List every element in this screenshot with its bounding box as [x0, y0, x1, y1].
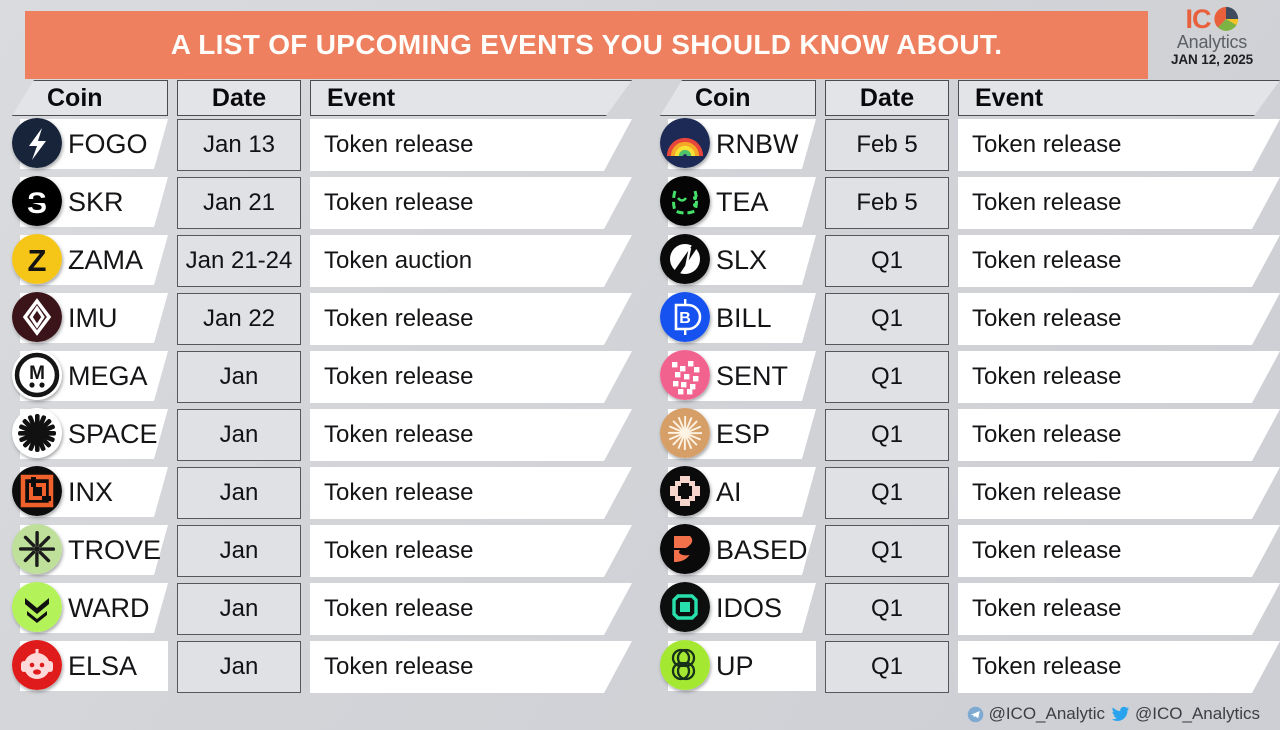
table-row: AI Q1 Token release: [660, 465, 1280, 523]
table-row: B BILL Q1 Token release: [660, 291, 1280, 349]
coin-symbol-label: IMU: [68, 291, 118, 345]
column-header-event: Event: [310, 80, 632, 116]
date-value: Q1: [825, 583, 949, 635]
svg-text:M: M: [29, 363, 45, 384]
event-value: Token release: [310, 293, 632, 345]
abstract-wave-icon: [660, 524, 710, 574]
table-header-row: Coin Date Event: [660, 80, 1280, 117]
date-value: Q1: [825, 467, 949, 519]
table-row: S SKR Jan 21 Token release: [12, 175, 632, 233]
table-row: TEA Feb 5 Token release: [660, 175, 1280, 233]
letter-z-icon: Z: [12, 234, 62, 284]
column-header-date: Date: [825, 80, 949, 116]
date-value: Jan 13: [177, 119, 301, 171]
table-row: IDOS Q1 Token release: [660, 581, 1280, 639]
event-value: Token auction: [310, 235, 632, 287]
event-value: Token release: [310, 583, 632, 635]
column-header-date: Date: [177, 80, 301, 116]
coin-symbol-label: UP: [716, 639, 754, 693]
table-row: Z ZAMA Jan 21-24 Token auction: [12, 233, 632, 291]
event-value: Token release: [958, 583, 1280, 635]
table-row: ELSA Jan Token release: [12, 639, 632, 697]
date-value: Q1: [825, 525, 949, 577]
coin-symbol-label: TROVE: [68, 523, 161, 577]
event-value: Token release: [958, 119, 1280, 171]
emoticon-wink-icon: [660, 176, 710, 226]
coin-symbol-label: TEA: [716, 175, 769, 229]
table-row: SENT Q1 Token release: [660, 349, 1280, 407]
coin-symbol-label: BASED: [716, 523, 808, 577]
sun-spokes-icon: [12, 524, 62, 574]
table-row: ESP Q1 Token release: [660, 407, 1280, 465]
table-row: RNBW Feb 5 Token release: [660, 117, 1280, 175]
telegram-handle-label: @ICO_Analytic: [989, 704, 1105, 724]
coin-symbol-label: SENT: [716, 349, 788, 403]
sun-rays-icon: [660, 408, 710, 458]
coin-symbol-label: ZAMA: [68, 233, 143, 287]
rainbow-arc-icon: [660, 118, 710, 168]
date-value: Jan: [177, 641, 301, 693]
table-row: WARD Jan Token release: [12, 581, 632, 639]
date-value: Jan 21: [177, 177, 301, 229]
coin-symbol-label: MEGA: [68, 349, 148, 403]
date-value: Jan: [177, 409, 301, 461]
date-value: Jan 21-24: [177, 235, 301, 287]
diamond-knot-icon: [12, 292, 62, 342]
twitter-handle-label: @ICO_Analytics: [1135, 704, 1260, 724]
table-row: SPACE Jan Token release: [12, 407, 632, 465]
logo-date: JAN 12, 2025: [1152, 52, 1272, 67]
table-row: FOGO Jan 13 Token release: [12, 117, 632, 175]
table-header-row: Coin Date Event: [12, 80, 632, 117]
coin-symbol-label: WARD: [68, 581, 150, 635]
coin-symbol-label: INX: [68, 465, 113, 519]
stacked-circles-icon: [660, 640, 710, 690]
date-value: Jan: [177, 467, 301, 519]
svg-text:B: B: [679, 310, 691, 327]
event-value: Token release: [958, 525, 1280, 577]
event-value: Token release: [958, 177, 1280, 229]
twitter-icon: [1111, 706, 1130, 723]
event-value: Token release: [310, 119, 632, 171]
table-row: SLX Q1 Token release: [660, 233, 1280, 291]
column-header-coin: Coin: [660, 80, 816, 116]
starburst-asterisk-icon: [12, 408, 62, 458]
letter-m-circle-icon: M: [12, 350, 62, 400]
coin-symbol-label: SKR: [68, 175, 124, 229]
coin-symbol-label: BILL: [716, 291, 772, 345]
coin-symbol-label: RNBW: [716, 117, 799, 171]
date-value: Jan: [177, 525, 301, 577]
event-value: Token release: [310, 525, 632, 577]
date-value: Q1: [825, 351, 949, 403]
coin-symbol-label: AI: [716, 465, 742, 519]
date-value: Jan: [177, 351, 301, 403]
event-value: Token release: [958, 467, 1280, 519]
page-title: A LIST OF UPCOMING EVENTS YOU SHOULD KNO…: [171, 29, 1003, 61]
date-value: Feb 5: [825, 119, 949, 171]
telegram-icon: [967, 706, 984, 723]
coin-symbol-label: ESP: [716, 407, 770, 461]
events-table-left: Coin Date Event FOGO Jan 13 Token releas…: [12, 80, 632, 697]
lightning-bolt-icon: [12, 118, 62, 168]
table-row: M MEGA Jan Token release: [12, 349, 632, 407]
column-header-event: Event: [958, 80, 1280, 116]
date-value: Q1: [825, 641, 949, 693]
date-value: Q1: [825, 409, 949, 461]
svg-text:Z: Z: [28, 243, 47, 278]
letter-s-chain-icon: S: [12, 176, 62, 226]
date-value: Feb 5: [825, 177, 949, 229]
pie-chart-icon: [1213, 6, 1239, 32]
table-row: BASED Q1 Token release: [660, 523, 1280, 581]
slash-circle-icon: [660, 234, 710, 284]
event-value: Token release: [310, 467, 632, 519]
event-value: Token release: [958, 293, 1280, 345]
telegram-handle-group[interactable]: @ICO_Analytic: [967, 704, 1105, 724]
event-value: Token release: [310, 177, 632, 229]
coin-symbol-label: SLX: [716, 233, 767, 287]
nested-square-icon: [660, 582, 710, 632]
date-value: Q1: [825, 235, 949, 287]
logo-wordmark: Analytics: [1152, 33, 1272, 52]
coin-symbol-label: IDOS: [716, 581, 782, 635]
date-value: Jan 22: [177, 293, 301, 345]
event-value: Token release: [310, 641, 632, 693]
event-value: Token release: [310, 409, 632, 461]
event-value: Token release: [958, 409, 1280, 461]
footer-social: @ICO_Analytic @ICO_Analytics: [967, 704, 1260, 724]
robot-face-icon: [12, 640, 62, 690]
table-row: IMU Jan 22 Token release: [12, 291, 632, 349]
letter-b-dollar-icon: B: [660, 292, 710, 342]
header-banner: A LIST OF UPCOMING EVENTS YOU SHOULD KNO…: [25, 11, 1148, 79]
date-value: Jan: [177, 583, 301, 635]
table-row: INX Jan Token release: [12, 465, 632, 523]
coin-symbol-label: SPACE: [68, 407, 158, 461]
table-row: TROVE Jan Token release: [12, 523, 632, 581]
pixel-cross-icon: [660, 466, 710, 516]
event-value: Token release: [958, 351, 1280, 403]
svg-text:S: S: [27, 187, 47, 220]
column-header-coin: Coin: [12, 80, 168, 116]
logo-mark: IC: [1152, 4, 1272, 34]
pixel-blocks-icon: [660, 350, 710, 400]
double-chevron-down-icon: [12, 582, 62, 632]
table-row: UP Q1 Token release: [660, 639, 1280, 697]
logo-mark-text: IC: [1186, 6, 1211, 33]
coin-symbol-label: FOGO: [68, 117, 148, 171]
events-table-right: Coin Date Event RNBW Feb 5 Token release: [660, 80, 1280, 697]
event-value: Token release: [310, 351, 632, 403]
date-value: Q1: [825, 293, 949, 345]
coin-symbol-label: ELSA: [68, 639, 137, 693]
event-value: Token release: [958, 641, 1280, 693]
maze-square-icon: [12, 466, 62, 516]
brand-logo: IC Analytics JAN 12, 2025: [1152, 4, 1272, 78]
event-value: Token release: [958, 235, 1280, 287]
twitter-handle-group[interactable]: @ICO_Analytics: [1111, 704, 1260, 724]
